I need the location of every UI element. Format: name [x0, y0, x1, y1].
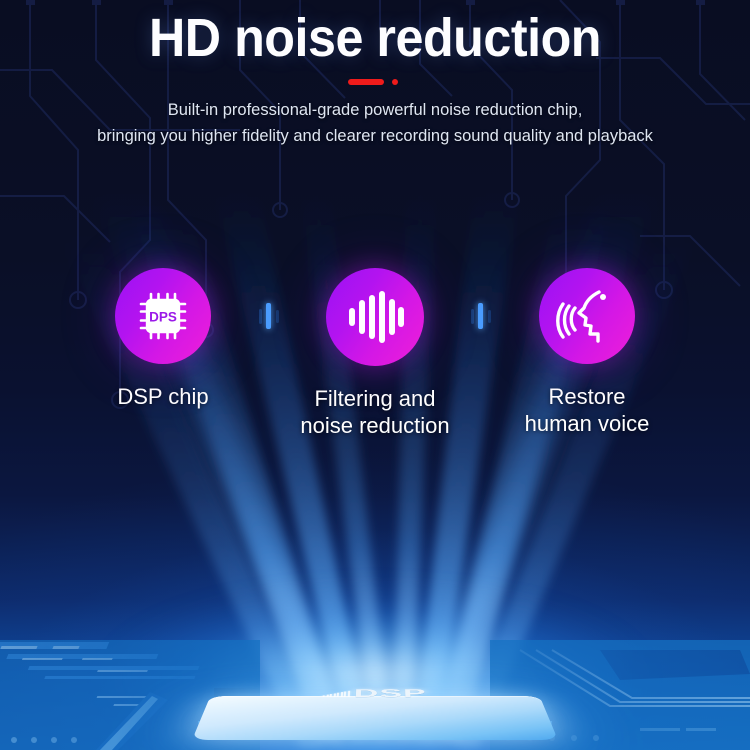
- feature-dsp-chip[interactable]: DPS DSP chip: [68, 268, 258, 410]
- chip-label: DPS: [149, 310, 177, 325]
- feature-label: Filtering and noise reduction: [300, 385, 449, 439]
- feature-label-line: Restore: [525, 383, 650, 410]
- speaking-head-icon: [555, 284, 619, 348]
- subtitle-line-2: bringing you higher fidelity and clearer…: [0, 123, 750, 149]
- cpu-chip-icon: DPS: [132, 285, 194, 347]
- feature-separator: [258, 268, 280, 364]
- dsp-chip-module: DSP: [192, 648, 558, 740]
- eye-dot-icon: [600, 294, 606, 300]
- feature-label-line: noise reduction: [300, 412, 449, 439]
- feature-label-line: DSP chip: [117, 383, 208, 410]
- feature-icon-bubble: DPS: [115, 268, 211, 364]
- subtitle-line-1: Built-in professional-grade powerful noi…: [0, 97, 750, 123]
- audio-waveform-icon: [345, 287, 405, 347]
- red-dash-accent-icon: [348, 79, 384, 85]
- feature-label: DSP chip: [117, 383, 208, 410]
- beam-divider-icon: [471, 309, 474, 324]
- feature-separator: [470, 268, 492, 364]
- device-top-surface: [192, 696, 558, 740]
- beam-divider-icon: [488, 310, 491, 323]
- feature-restore-human-voice[interactable]: Restore human voice: [492, 268, 682, 437]
- banner-header: HD noise reduction Built-in professional…: [0, 0, 750, 149]
- feature-icon-bubble: [539, 268, 635, 364]
- feature-label-line: human voice: [525, 410, 650, 437]
- red-dot-accent-icon: [392, 79, 398, 85]
- beam-divider-icon: [259, 309, 262, 324]
- beam-divider-icon: [478, 303, 483, 329]
- page-subtitle: Built-in professional-grade powerful noi…: [0, 97, 750, 149]
- device-branding: DSP: [189, 687, 560, 700]
- promo-banner-stage: HD noise reduction Built-in professional…: [0, 0, 750, 750]
- feature-label: Restore human voice: [525, 383, 650, 437]
- feature-filtering-noise-reduction[interactable]: Filtering and noise reduction: [280, 268, 470, 439]
- feature-label-line: Filtering and: [300, 385, 449, 412]
- beam-divider-icon: [276, 310, 279, 323]
- feature-list: DPS DSP chip: [0, 268, 750, 439]
- beam-divider-icon: [266, 303, 271, 329]
- title-accent: [0, 73, 750, 91]
- device-brand-text: DSP: [353, 687, 427, 700]
- striped-bars-logo-icon: [323, 690, 350, 697]
- page-title: HD noise reduction: [26, 7, 724, 69]
- feature-icon-bubble: [326, 268, 424, 366]
